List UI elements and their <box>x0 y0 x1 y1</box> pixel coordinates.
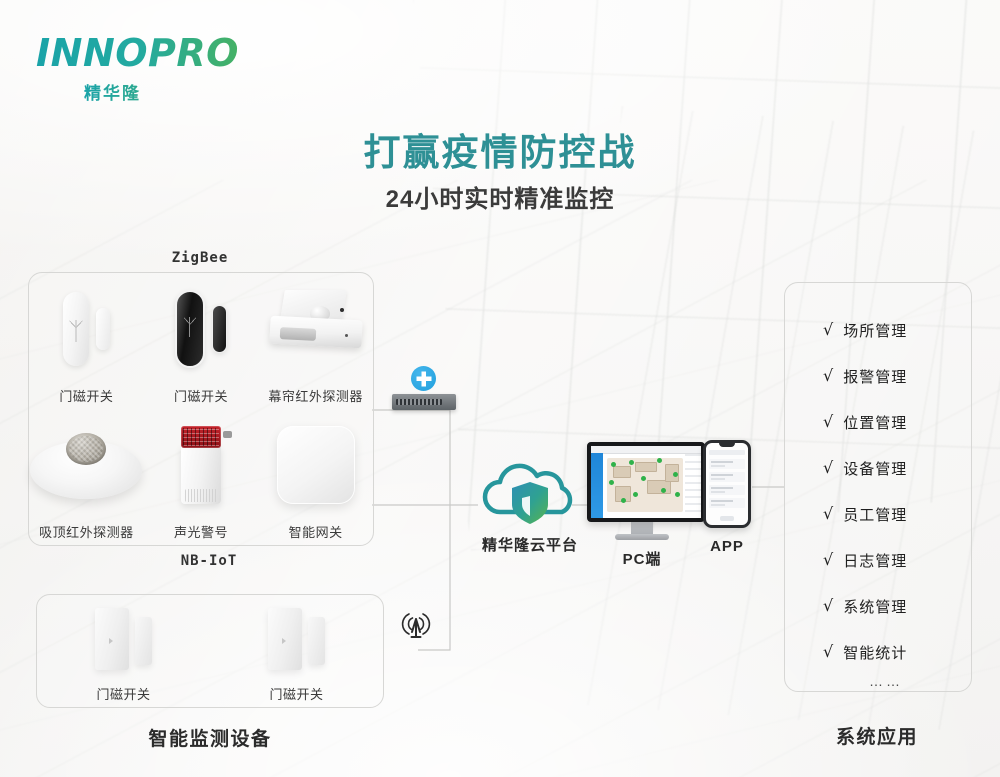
device-card-siren[interactable]: 声光警号 <box>144 409 259 545</box>
app-label: APP <box>710 538 744 555</box>
device-card-door-sensor-black[interactable]: 门磁开关 <box>144 273 259 409</box>
device-card-nb-door-sensor-1[interactable]: 门磁开关 <box>37 595 210 707</box>
check-icon: √ <box>823 506 833 522</box>
device-label: 门磁开关 <box>269 684 323 703</box>
app-list-item-3[interactable]: √ 设备管理 <box>785 445 971 491</box>
app-item-label: 日志管理 <box>843 550 907 571</box>
brand-name-en: INNOPRO <box>36 34 266 72</box>
device-card-door-sensor-white[interactable]: 门磁开关 <box>29 273 144 409</box>
app-list-item-0[interactable]: √ 场所管理 <box>785 307 971 353</box>
device-label: 吸顶红外探测器 <box>39 522 134 541</box>
check-icon: √ <box>823 644 833 660</box>
nb-door-sensor-icon <box>210 595 383 682</box>
app-list-item-5[interactable]: √ 日志管理 <box>785 537 971 583</box>
door-sensor-black-icon <box>144 273 259 384</box>
curtain-ir-detector-icon <box>258 273 373 384</box>
app-item-label: 场所管理 <box>843 320 907 341</box>
app-item-label: 员工管理 <box>843 504 907 525</box>
monitor-icon <box>587 442 697 540</box>
poster-canvas: INNOPRO 精华隆 打赢疫情防控战 24小时实时精准监控 ZigBee <box>0 0 1000 777</box>
check-icon: √ <box>823 322 833 338</box>
page-title: 打赢疫情防控战 <box>0 122 1000 176</box>
app-list-item-1[interactable]: √ 报警管理 <box>785 353 971 399</box>
app-list-item-2[interactable]: √ 位置管理 <box>785 399 971 445</box>
brand-logo: INNOPRO 精华隆 <box>36 34 266 104</box>
nb-door-sensor-icon <box>37 595 210 682</box>
device-label: 声光警号 <box>174 522 228 541</box>
app-list-more-indicator: …… <box>785 673 971 689</box>
app-item-label: 位置管理 <box>843 412 907 433</box>
device-card-gateway[interactable]: 智能网关 <box>258 409 373 545</box>
pc-label: PC端 <box>623 548 662 569</box>
app-node[interactable]: APP <box>696 440 758 555</box>
device-label: 智能网关 <box>289 522 343 541</box>
apps-section-caption: 系统应用 <box>784 722 970 749</box>
app-item-label: 系统管理 <box>843 596 907 617</box>
device-label: 门磁开关 <box>59 386 113 405</box>
antenna-signal-icon <box>396 604 436 644</box>
door-sensor-white-icon <box>29 273 144 384</box>
app-list-item-4[interactable]: √ 员工管理 <box>785 491 971 537</box>
app-list-item-6[interactable]: √ 系统管理 <box>785 583 971 629</box>
device-label: 门磁开关 <box>174 386 228 405</box>
device-label: 幕帘红外探测器 <box>268 386 363 405</box>
nbiot-device-panel: 门磁开关 门磁开关 <box>36 594 384 708</box>
app-item-label: 智能统计 <box>843 642 907 663</box>
pc-node[interactable]: PC端 <box>578 442 706 569</box>
phone-icon <box>703 440 751 528</box>
app-list-item-7[interactable]: √ 智能统计 <box>785 629 971 675</box>
check-icon: √ <box>823 552 833 568</box>
device-label: 门磁开关 <box>96 684 150 703</box>
app-item-label: 设备管理 <box>843 458 907 479</box>
page-subtitle: 24小时实时精准监控 <box>0 179 1000 214</box>
system-apps-panel: √ 场所管理 √ 报警管理 √ 位置管理 √ 设备管理 √ 员工管理 √ 日志管… <box>784 282 972 692</box>
network-switch-icon <box>392 366 456 410</box>
device-card-nb-door-sensor-2[interactable]: 门磁开关 <box>210 595 383 707</box>
device-card-ceiling-ir-detector[interactable]: 吸顶红外探测器 <box>29 409 144 545</box>
check-icon: √ <box>823 460 833 476</box>
device-card-curtain-ir-detector[interactable]: 幕帘红外探测器 <box>258 273 373 409</box>
ceiling-ir-detector-icon <box>29 409 144 520</box>
brand-name-cn: 精华隆 <box>84 79 266 104</box>
cloud-shield-icon <box>474 462 586 526</box>
nbiot-group-tag: NB-IoT <box>36 553 382 569</box>
zigbee-group-tag: ZigBee <box>28 250 372 266</box>
system-apps-list: √ 场所管理 √ 报警管理 √ 位置管理 √ 设备管理 √ 员工管理 √ 日志管… <box>785 307 971 675</box>
siren-icon <box>144 409 259 520</box>
check-icon: √ <box>823 598 833 614</box>
gateway-icon <box>258 409 373 520</box>
check-icon: √ <box>823 414 833 430</box>
cloud-platform-label: 精华隆云平台 <box>482 534 578 555</box>
app-item-label: 报警管理 <box>843 366 907 387</box>
check-icon: √ <box>823 368 833 384</box>
devices-section-caption: 智能监测设备 <box>20 724 400 751</box>
zigbee-device-panel: 门磁开关 门磁开关 幕帘红外探测器 <box>28 272 374 546</box>
